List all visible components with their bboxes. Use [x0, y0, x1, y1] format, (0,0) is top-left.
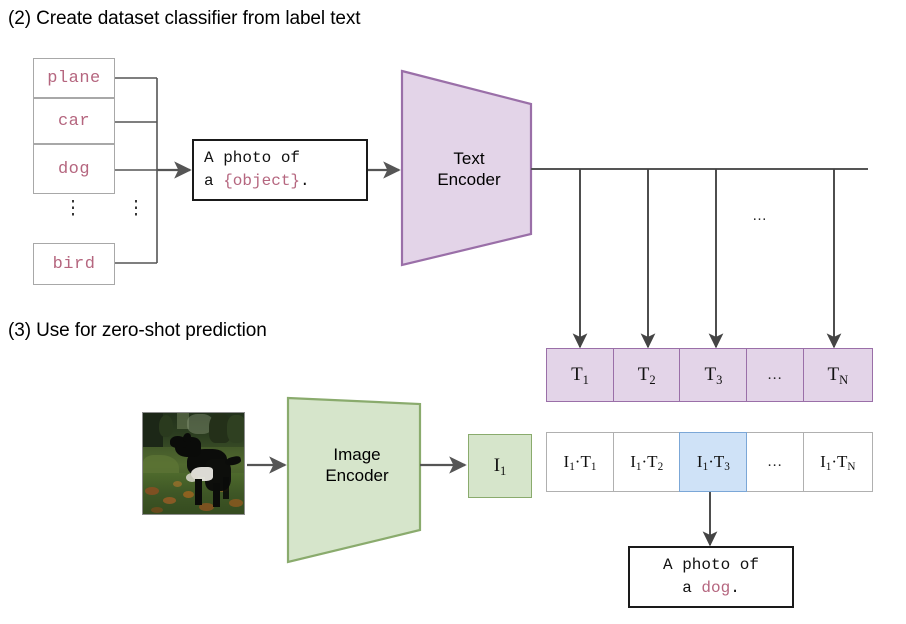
prompt-object-slot: {object} — [223, 172, 300, 190]
label-item-text: dog — [58, 160, 90, 179]
bus-ellipsis: … — [752, 207, 768, 224]
prompt-line-2: a {object}. — [204, 170, 356, 193]
cell-label: … — [767, 454, 783, 471]
prompt-line-2-suffix: . — [300, 172, 310, 190]
cell-label: I1 — [494, 455, 507, 477]
cell-label: T3 — [704, 364, 722, 386]
label-item-bird[interactable]: bird — [33, 243, 115, 285]
similarity-cell-2[interactable]: I1·T2 — [613, 432, 681, 492]
prompt-template-box[interactable]: A photo of a {object}. — [192, 139, 368, 201]
similarity-row: I1·T1 I1·T2 I1·T3 … I1·TN — [546, 432, 873, 492]
label-item-text: plane — [47, 69, 101, 88]
text-encoder-label: Text Encoder — [424, 148, 514, 191]
text-embedding-row: T1 T2 T3 … TN — [546, 348, 873, 402]
prediction-line-2: a dog. — [682, 577, 740, 600]
cell-label: I1·T2 — [630, 452, 663, 472]
connector-layer — [0, 0, 906, 624]
section-3-heading: (3) Use for zero-shot prediction — [8, 320, 267, 342]
text-embedding-cell-2[interactable]: T2 — [613, 348, 681, 402]
image-embedding-cell[interactable]: I1 — [468, 434, 532, 498]
label-bracket-ellipsis: ⋮ — [125, 204, 147, 214]
similarity-cell-1[interactable]: I1·T1 — [546, 432, 614, 492]
cell-label: I1·T1 — [564, 452, 597, 472]
label-list-ellipsis: ⋮ — [62, 204, 84, 214]
text-embedding-cell-ellipsis: … — [746, 348, 804, 402]
image-encoder-label: Image Encoder — [310, 444, 404, 487]
text-embedding-cell-1[interactable]: T1 — [546, 348, 614, 402]
cell-label: T1 — [571, 364, 589, 386]
similarity-cell-n[interactable]: I1·TN — [803, 432, 873, 492]
label-item-text: car — [58, 112, 90, 131]
similarity-cell-ellipsis: … — [746, 432, 804, 492]
cell-label: TN — [827, 364, 848, 386]
cell-label: I1·TN — [820, 452, 855, 472]
prompt-line-2-prefix: a — [204, 172, 223, 190]
section-2-heading: (2) Create dataset classifier from label… — [8, 8, 360, 30]
bus-drop-arrows — [580, 169, 834, 347]
cell-label: … — [767, 367, 783, 384]
input-image-thumbnail[interactable] — [142, 412, 245, 515]
prediction-line-1: A photo of — [663, 554, 759, 577]
text-embedding-cell-n[interactable]: TN — [803, 348, 873, 402]
prediction-line-2-prefix: a — [682, 579, 701, 597]
text-embedding-cell-3[interactable]: T3 — [679, 348, 747, 402]
label-item-dog[interactable]: dog — [33, 144, 115, 194]
similarity-cell-3-selected[interactable]: I1·T3 — [679, 432, 747, 492]
label-item-plane[interactable]: plane — [33, 58, 115, 98]
label-bracket — [115, 78, 157, 263]
prediction-line-2-suffix: . — [730, 579, 740, 597]
prediction-output-box[interactable]: A photo of a dog. — [628, 546, 794, 608]
prediction-class-name: dog — [701, 579, 730, 597]
label-item-text: bird — [53, 255, 96, 274]
cell-label: T2 — [638, 364, 656, 386]
prompt-line-1: A photo of — [204, 147, 356, 170]
diagram-canvas: (2) Create dataset classifier from label… — [0, 0, 906, 624]
label-item-car[interactable]: car — [33, 98, 115, 144]
cell-label: I1·T3 — [697, 452, 730, 472]
